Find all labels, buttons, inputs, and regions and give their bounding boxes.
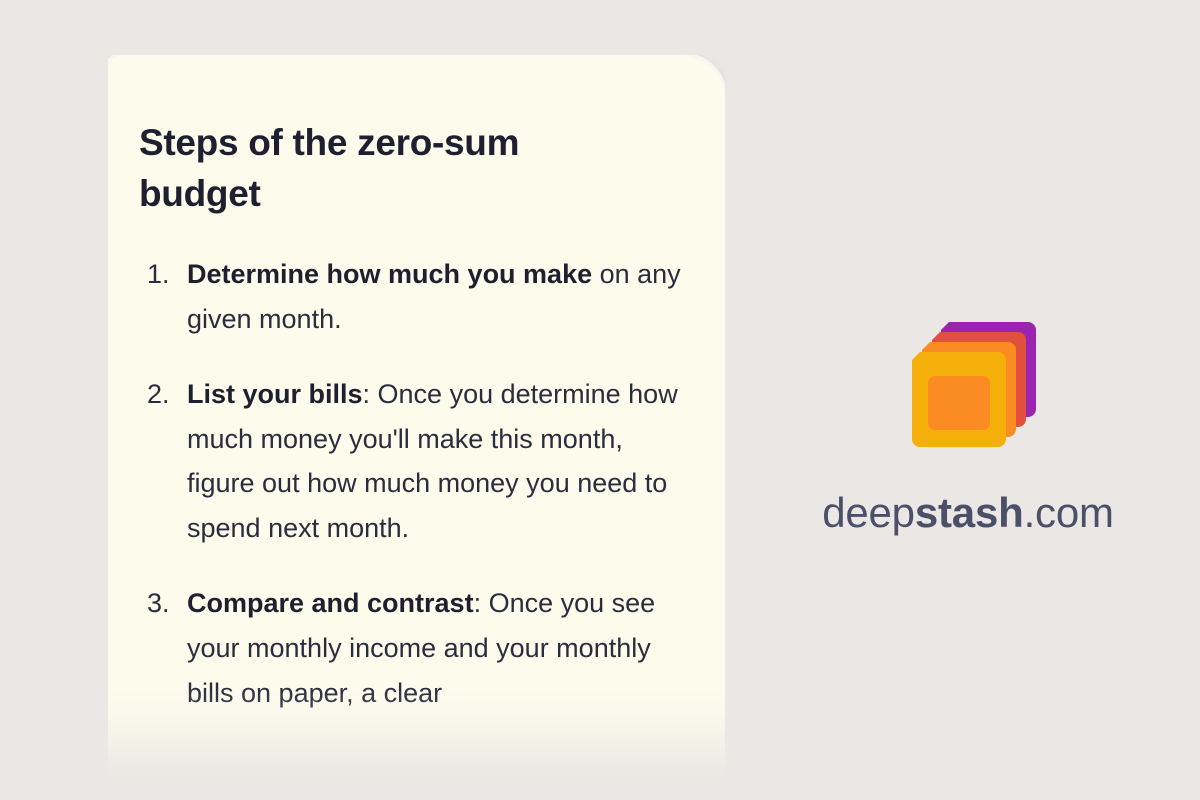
list-item: Compare and contrast: Once you see your …	[139, 581, 687, 715]
content-card-wrapper: Steps of the zero-sum budget Determine h…	[108, 55, 725, 800]
wordmark-tld: .com	[1024, 489, 1114, 536]
content-card-body: Steps of the zero-sum budget Determine h…	[108, 55, 725, 800]
screenshot-stage: Steps of the zero-sum budget Determine h…	[0, 0, 1200, 800]
brand-wordmark: deepstash.com	[808, 492, 1128, 534]
step-lead-text: Determine how much you make	[187, 259, 592, 289]
list-item: Determine how much you make on any given…	[139, 252, 687, 342]
step-lead-text: List your bills	[187, 379, 363, 409]
wordmark-deep: deep	[822, 489, 915, 536]
step-lead-text: Compare and contrast	[187, 588, 474, 618]
wordmark-stash: stash	[915, 489, 1024, 536]
brand-block: deepstash.com	[808, 310, 1128, 534]
steps-list: Determine how much you make on any given…	[139, 252, 687, 715]
list-item: List your bills: Once you determine how …	[139, 372, 687, 551]
deepstash-cube-logo-icon	[892, 310, 1044, 462]
page-title: Steps of the zero-sum budget	[139, 117, 609, 219]
